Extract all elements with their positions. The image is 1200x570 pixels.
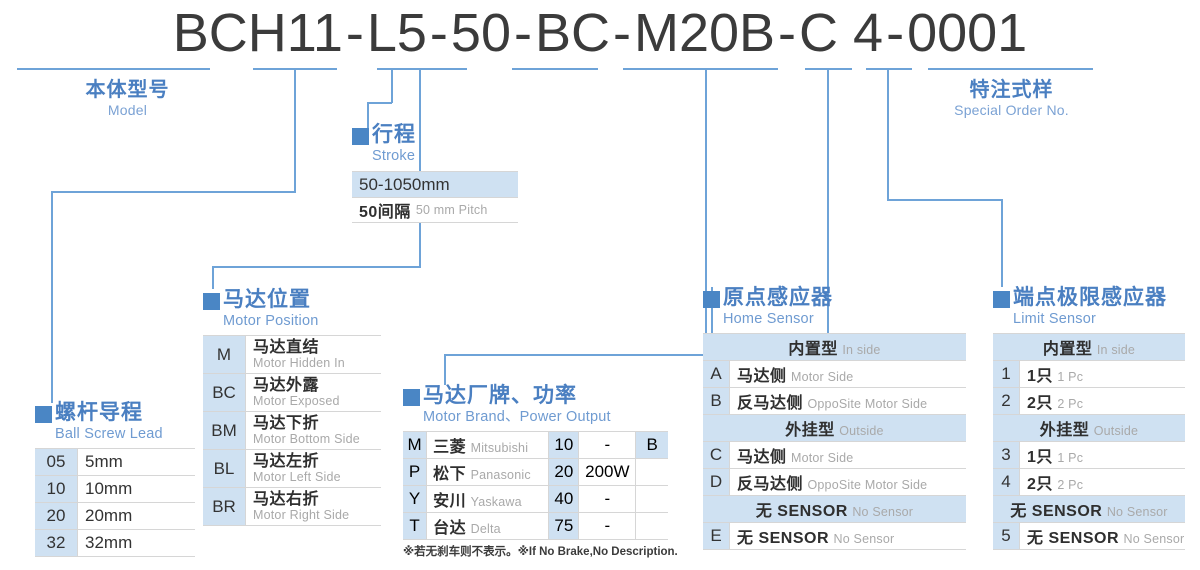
limit-sensor-group: 无 SENSOR No Sensor xyxy=(993,496,1185,523)
motor-position-code: BC xyxy=(203,374,246,412)
motor-position-desc: 马达右折 Motor Right Side xyxy=(246,488,382,526)
motor-position-code: BR xyxy=(203,488,246,526)
brand-code: T xyxy=(403,513,427,540)
brake-code xyxy=(636,513,668,540)
home-sensor-code: C xyxy=(703,442,730,469)
code-segment-special-order: 0001 xyxy=(907,5,1027,61)
home-sensor-desc-en: OppoSite Motor Side xyxy=(807,478,927,492)
limit-sensor-group-en: No Sensor xyxy=(1107,505,1168,519)
home-sensor-code: D xyxy=(703,469,730,496)
home-sensor-desc-zh: 反马达侧 xyxy=(737,395,803,412)
section-special-order: 特注式样 Special Order No. xyxy=(928,78,1095,119)
stroke-range-row: 50-1050mm xyxy=(352,171,518,198)
home-sensor-desc-zh: 无 SENSOR xyxy=(737,530,829,547)
code-segment-sensors: C 4 xyxy=(799,5,883,61)
limit-sensor-group: 外挂型 Outside xyxy=(993,415,1185,442)
section-stroke: 行程 Stroke 50-1050mm 50间隔 50 mm Pitch xyxy=(352,122,518,223)
home-sensor-desc-en: Motor Side xyxy=(791,370,853,384)
brake-code xyxy=(636,486,668,513)
brand-code: M xyxy=(403,432,427,459)
motor-position-desc: 马达下折 Motor Bottom Side xyxy=(246,412,382,450)
brand-name-en: Delta xyxy=(471,522,501,536)
table-row: BC 马达外露 Motor Exposed xyxy=(203,374,381,412)
limit-sensor-desc-zh: 无 SENSOR xyxy=(1027,530,1119,547)
brand-name-en: Panasonic xyxy=(471,468,531,482)
table-row: 32 32mm xyxy=(35,530,195,557)
code-dash: - xyxy=(775,5,799,61)
table-row: C 马达侧 Motor Side xyxy=(703,442,966,469)
table-row: BR 马达右折 Motor Right Side xyxy=(203,488,381,526)
motor-position-title-en: Motor Position xyxy=(223,312,318,330)
limit-sensor-group-en: In side xyxy=(1097,343,1135,357)
brand-name-zh: 安川 xyxy=(433,493,466,510)
motor-position-desc-zh: 马达直结 xyxy=(253,339,381,356)
special-order-title-en: Special Order No. xyxy=(954,102,1069,119)
brand-name-zh: 松下 xyxy=(433,466,466,483)
stroke-title-zh: 行程 xyxy=(372,122,416,147)
code-dash: - xyxy=(343,5,367,61)
power-value: - xyxy=(579,486,636,513)
home-sensor-code: B xyxy=(703,388,730,415)
bullet-square-icon xyxy=(403,389,420,406)
brake-code: B xyxy=(636,432,668,459)
home-sensor-title-zh: 原点感应器 xyxy=(723,285,833,310)
home-sensor-desc-zh: 马达侧 xyxy=(737,449,787,466)
limit-sensor-desc: 无 SENSOR No Sensor xyxy=(1020,523,1186,550)
limit-sensor-desc-en: No Sensor xyxy=(1123,532,1184,546)
table-row: Y 安川 Yaskawa 40 - xyxy=(403,486,668,513)
code-segment-model: BCH11 xyxy=(173,5,343,61)
limit-sensor-group-en: Outside xyxy=(1094,424,1138,438)
limit-sensor-code: 5 xyxy=(993,523,1020,550)
power-value: 200W xyxy=(579,459,636,486)
brand-name-en: Mitsubishi xyxy=(471,441,529,455)
table-row: 20 20mm xyxy=(35,503,195,530)
motor-position-desc-en: Motor Right Side xyxy=(253,508,381,522)
brand-name-zh: 台达 xyxy=(433,520,466,537)
table-group-header: 内置型 In side xyxy=(993,334,1185,361)
limit-sensor-group-zh: 内置型 xyxy=(1043,341,1093,358)
limit-sensor-desc: 1只 1 Pc xyxy=(1020,442,1186,469)
motor-position-desc: 马达左折 Motor Left Side xyxy=(246,450,382,488)
table-group-header: 外挂型 Outside xyxy=(703,415,966,442)
limit-sensor-desc-en: 2 Pc xyxy=(1057,397,1083,411)
lead-code: 20 xyxy=(35,503,78,530)
brand-name: 台达 Delta xyxy=(427,513,549,540)
limit-sensor-group-zh: 无 SENSOR xyxy=(1010,503,1102,520)
limit-sensor-desc-zh: 2只 xyxy=(1027,395,1053,412)
home-sensor-group: 外挂型 Outside xyxy=(703,415,966,442)
home-sensor-desc: 反马达侧 OppoSite Motor Side xyxy=(730,388,967,415)
bullet-square-icon xyxy=(993,291,1010,308)
limit-sensor-desc-en: 1 Pc xyxy=(1057,370,1083,384)
home-sensor-desc: 无 SENSOR No Sensor xyxy=(730,523,967,550)
table-row: A 马达侧 Motor Side xyxy=(703,361,966,388)
home-sensor-table: 内置型 In side A 马达侧 Motor Side B 反马达侧 Oppo xyxy=(703,333,966,550)
lead-title-en: Ball Screw Lead xyxy=(55,425,163,443)
table-group-header: 内置型 In side xyxy=(703,334,966,361)
limit-sensor-desc-zh: 1只 xyxy=(1027,449,1053,466)
bullet-square-icon xyxy=(203,293,220,310)
home-sensor-group-en: Outside xyxy=(839,424,883,438)
motor-position-desc: 马达直结 Motor Hidden In xyxy=(246,336,382,374)
limit-sensor-desc: 2只 2 Pc xyxy=(1020,469,1186,496)
home-sensor-desc: 马达侧 Motor Side xyxy=(730,361,967,388)
limit-sensor-group: 内置型 In side xyxy=(993,334,1185,361)
motor-position-title-zh: 马达位置 xyxy=(223,287,318,312)
section-motor-brand: 马达厂牌、功率 Motor Brand、Power Output M 三菱 Mi… xyxy=(403,383,678,559)
bullet-square-icon xyxy=(35,406,52,423)
motor-brand-table: M 三菱 Mitsubishi 10 - B P 松下 Panasonic 20 xyxy=(403,431,668,540)
motor-position-desc-en: Motor Exposed xyxy=(253,394,381,408)
lead-value: 10mm xyxy=(78,476,196,503)
stroke-pitch-zh: 50间隔 xyxy=(359,198,411,222)
limit-sensor-desc: 2只 2 Pc xyxy=(1020,388,1186,415)
motor-position-desc-en: Motor Left Side xyxy=(253,470,381,484)
section-home-sensor: 原点感应器 Home Sensor 内置型 In side A 马达侧 Moto… xyxy=(703,285,966,550)
ball-screw-lead-table: 05 5mm 10 10mm 20 20mm 32 32mm xyxy=(35,448,195,557)
table-row: 05 5mm xyxy=(35,449,195,476)
motor-brand-note: ※若无刹车则不表示。※If No Brake,No Description. xyxy=(403,543,678,559)
limit-sensor-code: 1 xyxy=(993,361,1020,388)
limit-sensor-code: 4 xyxy=(993,469,1020,496)
table-row: 4 2只 2 Pc xyxy=(993,469,1185,496)
power-value: - xyxy=(579,432,636,459)
power-code: 10 xyxy=(549,432,579,459)
brand-name: 松下 Panasonic xyxy=(427,459,549,486)
section-limit-sensor: 端点极限感应器 Limit Sensor 内置型 In side 1 1只 1 … xyxy=(993,285,1185,550)
home-sensor-code: E xyxy=(703,523,730,550)
table-row: 1 1只 1 Pc xyxy=(993,361,1185,388)
motor-position-desc-zh: 马达下折 xyxy=(253,415,381,432)
home-sensor-desc: 反马达侧 OppoSite Motor Side xyxy=(730,469,967,496)
motor-brand-note-zh: ※若无刹车则不表示。 xyxy=(403,546,518,558)
stroke-pitch-en: 50 mm Pitch xyxy=(416,203,488,217)
power-value: - xyxy=(579,513,636,540)
brand-name-zh: 三菱 xyxy=(433,439,466,456)
home-sensor-desc-en: No Sensor xyxy=(833,532,894,546)
table-row: 10 10mm xyxy=(35,476,195,503)
table-row: T 台达 Delta 75 - xyxy=(403,513,668,540)
home-sensor-group: 无 SENSOR No Sensor xyxy=(703,496,966,523)
motor-brand-note-en: ※If No Brake,No Description. xyxy=(518,546,678,558)
home-sensor-desc-en: Motor Side xyxy=(791,451,853,465)
lead-title-zh: 螺杆导程 xyxy=(55,400,163,425)
table-row: BL 马达左折 Motor Left Side xyxy=(203,450,381,488)
lead-code: 05 xyxy=(35,449,78,476)
lead-value: 20mm xyxy=(78,503,196,530)
limit-sensor-title-zh: 端点极限感应器 xyxy=(1013,285,1167,310)
motor-position-desc-zh: 马达右折 xyxy=(253,491,381,508)
stroke-pitch-row: 50间隔 50 mm Pitch xyxy=(352,198,518,223)
special-order-title-zh: 特注式样 xyxy=(970,78,1054,102)
table-row: E 无 SENSOR No Sensor xyxy=(703,523,966,550)
table-row: M 马达直结 Motor Hidden In xyxy=(203,336,381,374)
motor-position-code: BL xyxy=(203,450,246,488)
power-code: 20 xyxy=(549,459,579,486)
home-sensor-group-en: In side xyxy=(842,343,880,357)
table-row: M 三菱 Mitsubishi 10 - B xyxy=(403,432,668,459)
limit-sensor-desc-en: 1 Pc xyxy=(1057,451,1083,465)
motor-position-table: M 马达直结 Motor Hidden In BC 马达外露 Motor Exp… xyxy=(203,335,381,526)
home-sensor-group: 内置型 In side xyxy=(703,334,966,361)
home-sensor-group-en: No Sensor xyxy=(852,505,913,519)
section-motor-position: 马达位置 Motor Position M 马达直结 Motor Hidden … xyxy=(203,287,381,526)
home-sensor-group-zh: 内置型 xyxy=(788,341,838,358)
code-segment-stroke: 50 xyxy=(451,5,511,61)
product-code-title: BCH11 - L5 - 50 - BC - M20B - C 4 - 0001 xyxy=(0,2,1200,64)
power-code: 40 xyxy=(549,486,579,513)
home-sensor-desc-en: OppoSite Motor Side xyxy=(807,397,927,411)
code-dash: - xyxy=(427,5,451,61)
table-group-header: 外挂型 Outside xyxy=(993,415,1185,442)
home-sensor-code: A xyxy=(703,361,730,388)
code-segment-lead: L5 xyxy=(367,5,427,61)
limit-sensor-desc-zh: 1只 xyxy=(1027,368,1053,385)
bullet-square-icon xyxy=(352,128,369,145)
limit-sensor-code: 3 xyxy=(993,442,1020,469)
table-row: 5 无 SENSOR No Sensor xyxy=(993,523,1185,550)
home-sensor-group-zh: 外挂型 xyxy=(785,422,835,439)
product-code-diagram: BCH11 - L5 - 50 - BC - M20B - C 4 - 0001 xyxy=(0,0,1200,570)
brand-name: 三菱 Mitsubishi xyxy=(427,432,549,459)
home-sensor-group-zh: 无 SENSOR xyxy=(756,503,848,520)
home-sensor-desc: 马达侧 Motor Side xyxy=(730,442,967,469)
stroke-range-value: 50-1050mm xyxy=(359,175,450,195)
section-model: 本体型号 Model xyxy=(40,78,215,119)
motor-position-code: M xyxy=(203,336,246,374)
code-segment-motor-pos: BC xyxy=(535,5,610,61)
motor-position-desc-zh: 马达外露 xyxy=(253,377,381,394)
table-group-header: 无 SENSOR No Sensor xyxy=(703,496,966,523)
motor-position-desc-zh: 马达左折 xyxy=(253,453,381,470)
table-row: 2 2只 2 Pc xyxy=(993,388,1185,415)
limit-sensor-desc: 1只 1 Pc xyxy=(1020,361,1186,388)
brand-name-en: Yaskawa xyxy=(471,495,522,509)
brand-code: P xyxy=(403,459,427,486)
limit-sensor-desc-zh: 2只 xyxy=(1027,476,1053,493)
motor-brand-title-en: Motor Brand、Power Output xyxy=(423,408,611,426)
home-sensor-desc-zh: 反马达侧 xyxy=(737,476,803,493)
table-row: 3 1只 1 Pc xyxy=(993,442,1185,469)
table-group-header: 无 SENSOR No Sensor xyxy=(993,496,1185,523)
limit-sensor-group-zh: 外挂型 xyxy=(1040,422,1090,439)
home-sensor-desc-zh: 马达侧 xyxy=(737,368,787,385)
code-dash: - xyxy=(511,5,535,61)
table-row: D 反马达侧 OppoSite Motor Side xyxy=(703,469,966,496)
lead-code: 10 xyxy=(35,476,78,503)
table-row: BM 马达下折 Motor Bottom Side xyxy=(203,412,381,450)
bullet-square-icon xyxy=(703,291,720,308)
code-dash: - xyxy=(610,5,634,61)
motor-position-desc-en: Motor Bottom Side xyxy=(253,432,381,446)
table-row: B 反马达侧 OppoSite Motor Side xyxy=(703,388,966,415)
power-code: 75 xyxy=(549,513,579,540)
limit-sensor-title-en: Limit Sensor xyxy=(1013,310,1167,328)
lead-code: 32 xyxy=(35,530,78,557)
lead-value: 32mm xyxy=(78,530,196,557)
motor-position-desc-en: Motor Hidden In xyxy=(253,356,381,370)
lead-value: 5mm xyxy=(78,449,196,476)
limit-sensor-code: 2 xyxy=(993,388,1020,415)
code-segment-motor-brand: M20B xyxy=(634,5,775,61)
motor-position-desc: 马达外露 Motor Exposed xyxy=(246,374,382,412)
home-sensor-title-en: Home Sensor xyxy=(723,310,833,328)
motor-position-code: BM xyxy=(203,412,246,450)
table-row: P 松下 Panasonic 20 200W xyxy=(403,459,668,486)
stroke-title-en: Stroke xyxy=(372,147,416,165)
code-dash: - xyxy=(883,5,907,61)
brand-name: 安川 Yaskawa xyxy=(427,486,549,513)
limit-sensor-table: 内置型 In side 1 1只 1 Pc 2 2只 2 Pc xyxy=(993,333,1185,550)
limit-sensor-desc-en: 2 Pc xyxy=(1057,478,1083,492)
brand-code: Y xyxy=(403,486,427,513)
model-title-en: Model xyxy=(108,102,147,119)
model-title-zh: 本体型号 xyxy=(86,78,170,102)
brake-code xyxy=(636,459,668,486)
motor-brand-title-zh: 马达厂牌、功率 xyxy=(423,383,611,408)
section-ball-screw-lead: 螺杆导程 Ball Screw Lead 05 5mm 10 10mm 20 2… xyxy=(35,400,195,557)
